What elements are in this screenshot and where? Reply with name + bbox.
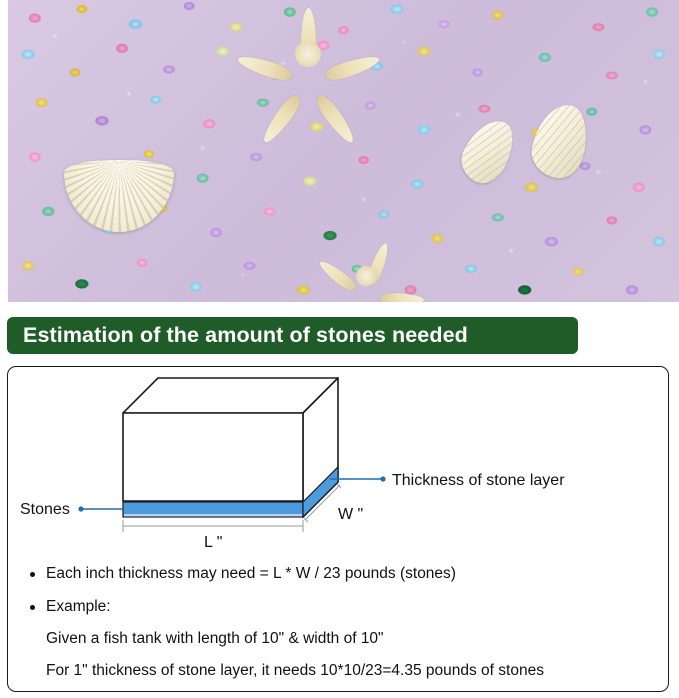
- length-label: L ": [204, 534, 222, 551]
- starfish-icon: [256, 2, 360, 106]
- example-line: Given a fish tank with length of 10" & w…: [46, 630, 654, 649]
- thickness-label: Thickness of stone layer: [392, 472, 565, 489]
- starfish-icon: [318, 236, 414, 302]
- example-line: For 1" thickness of stone layer, it need…: [46, 662, 654, 681]
- bullet-item: Example:: [26, 598, 654, 617]
- tank-diagram: Stones Thickness of stone layer L " W ": [8, 367, 670, 553]
- bullet-list: Each inch thickness may need = L * W / 2…: [26, 565, 654, 693]
- width-label: W ": [338, 506, 363, 523]
- stones-label: Stones: [20, 501, 70, 518]
- section-banner: Estimation of the amount of stones neede…: [7, 317, 578, 354]
- banner-title: Estimation of the amount of stones neede…: [7, 323, 468, 348]
- scallop-shell-icon: [64, 160, 174, 232]
- bullet-dot-icon: [30, 572, 35, 577]
- info-card: Stones Thickness of stone layer L " W " …: [7, 366, 669, 692]
- bullet-text: Each inch thickness may need = L * W / 2…: [46, 565, 456, 584]
- bullet-text: Example:: [46, 598, 111, 617]
- bullet-dot-icon: [30, 605, 35, 610]
- product-photo: [8, 0, 679, 302]
- bullet-item: Each inch thickness may need = L * W / 2…: [26, 565, 654, 584]
